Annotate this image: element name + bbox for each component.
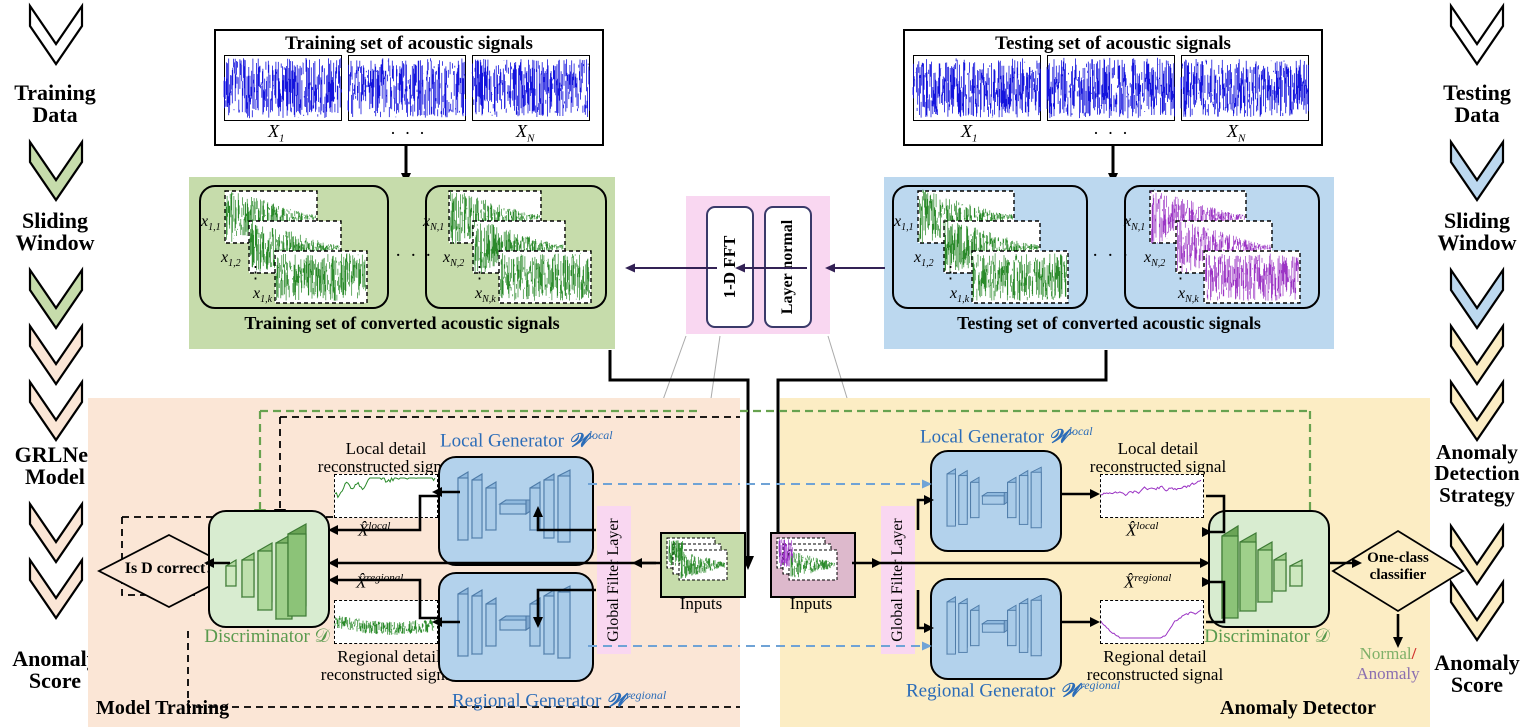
converted-vdots-a-test: ⋮ bbox=[942, 263, 959, 283]
detector-blue-dashed bbox=[746, 470, 946, 690]
converted-label-xnk-test: xN,k bbox=[1178, 285, 1199, 305]
converted-label-xn1-test: xN,1 bbox=[1124, 213, 1145, 233]
raw-signal-label-x1: X1 bbox=[268, 121, 285, 145]
rail-arrow-testing-data bbox=[1449, 4, 1505, 66]
converted-label-x11-test: x1,1 bbox=[894, 213, 914, 233]
testing-converted-panel: x1,1 x1,2 ⋮ x1,k · · · xN,1 xN,2 ⋮ xN,k … bbox=[884, 177, 1334, 349]
training-blue-dashed-left bbox=[588, 470, 748, 690]
converted-vdots-a: ⋮ bbox=[247, 263, 264, 283]
rail-arrow-sliding-window bbox=[28, 140, 84, 202]
anomaly-detector-panel-label: Anomaly Detector bbox=[1220, 698, 1376, 718]
rail-arrow-group-detection-strategy bbox=[1449, 268, 1505, 443]
raw-signal-label-xn: XN bbox=[1227, 121, 1245, 145]
rail-arrow-group-grlnet bbox=[28, 268, 84, 443]
raw-signal-label-x1: X1 bbox=[961, 121, 978, 145]
converted-label-x12-test: x1,2 bbox=[914, 249, 934, 269]
testing-converted-title: Testing set of converted acoustic signal… bbox=[884, 313, 1334, 334]
raw-signal-plot bbox=[913, 55, 1041, 121]
raw-signal-plot bbox=[348, 55, 466, 121]
raw-signal-label-xn: XN bbox=[516, 121, 534, 145]
converted-signal-stack-a bbox=[223, 189, 383, 309]
fft-flow-arrows bbox=[615, 258, 895, 278]
local-generator-detector-sup: local bbox=[1069, 424, 1093, 438]
rail-arrow-sliding-window-right bbox=[1449, 140, 1505, 202]
testing-raw-signals-box: Testing set of acoustic signals X1 · · ·… bbox=[903, 29, 1323, 146]
rail-label-sliding-window-right: SlidingWindow bbox=[1420, 210, 1522, 255]
rail-arrow-training-data bbox=[28, 4, 84, 66]
right-rail: TestingData SlidingWindow AnomalyDetecti… bbox=[1432, 0, 1522, 727]
raw-signal-plot bbox=[1047, 55, 1175, 121]
converted-vdots-b-test: ⋮ bbox=[1172, 263, 1189, 283]
result-slash: / bbox=[1412, 644, 1417, 663]
raw-signal-plot bbox=[1181, 55, 1309, 121]
converted-signal-stack-a-test bbox=[916, 189, 1084, 309]
training-raw-signals-box: Training set of acoustic signals X1 · · … bbox=[214, 29, 604, 146]
converted-label-xn1: xN,1 bbox=[423, 213, 444, 233]
converted-label-xn2-test: xN,2 bbox=[1144, 249, 1165, 269]
rail-arrow-group-anomaly-score bbox=[28, 502, 84, 622]
raw-signal-plot bbox=[472, 55, 590, 121]
converted-label-x1k-test: x1,k bbox=[950, 285, 969, 305]
converted-ellipsis-test: · · · bbox=[1092, 245, 1130, 267]
converted-signal-stack-b bbox=[447, 189, 607, 309]
training-converted-title: Training set of converted acoustic signa… bbox=[189, 313, 615, 334]
converted-signal-stack-b-test bbox=[1148, 189, 1318, 309]
converted-label-x1k: x1,k bbox=[253, 285, 272, 305]
training-converted-panel: x1,1 x1,2 ⋮ x1,k · · · xN,1 xN,2 ⋮ xN,k … bbox=[189, 177, 615, 349]
testing-raw-title: Testing set of acoustic signals bbox=[905, 33, 1321, 55]
rail-label-anomaly-detection-strategy: AnomalyDetectionStrategy bbox=[1418, 442, 1522, 506]
raw-signal-ellipsis: · · · bbox=[390, 123, 427, 144]
rail-label-training-data: TrainingData bbox=[0, 82, 110, 127]
rail-label-testing-data: TestingData bbox=[1420, 82, 1522, 127]
converted-vdots-b: ⋮ bbox=[471, 263, 488, 283]
converted-label-xn2: xN,2 bbox=[443, 249, 464, 269]
converted-label-x11: x1,1 bbox=[201, 213, 221, 233]
rail-label-sliding-window: SlidingWindow bbox=[0, 210, 110, 255]
raw-signal-ellipsis: · · · bbox=[1093, 123, 1130, 144]
converted-label-xnk: xN,k bbox=[475, 285, 496, 305]
converted-label-x12: x1,2 bbox=[221, 249, 241, 269]
training-raw-title: Training set of acoustic signals bbox=[216, 33, 602, 55]
converted-ellipsis: · · · bbox=[395, 245, 433, 267]
raw-signal-plot bbox=[224, 55, 342, 121]
